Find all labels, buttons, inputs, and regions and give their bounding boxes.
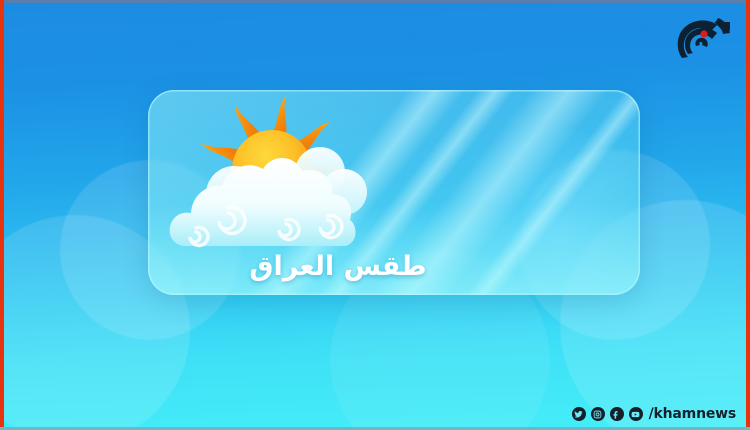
frame-right-border	[746, 0, 750, 430]
social-handle[interactable]: /khamnews	[649, 406, 736, 422]
page-title: طقس العراق	[148, 251, 528, 282]
frame-top-border	[0, 0, 750, 3]
logo-dot	[700, 30, 707, 37]
instagram-icon[interactable]	[591, 407, 605, 421]
weather-graphic-canvas: طقس العراق /khamnews	[0, 0, 750, 430]
twitter-icon[interactable]	[572, 407, 586, 421]
sun-behind-cloud-icon	[168, 96, 388, 261]
frame-left-border	[0, 0, 4, 430]
facebook-icon[interactable]	[610, 407, 624, 421]
youtube-icon[interactable]	[629, 407, 643, 421]
khamnews-logo[interactable]	[674, 8, 736, 66]
social-bar: /khamnews	[572, 406, 736, 422]
